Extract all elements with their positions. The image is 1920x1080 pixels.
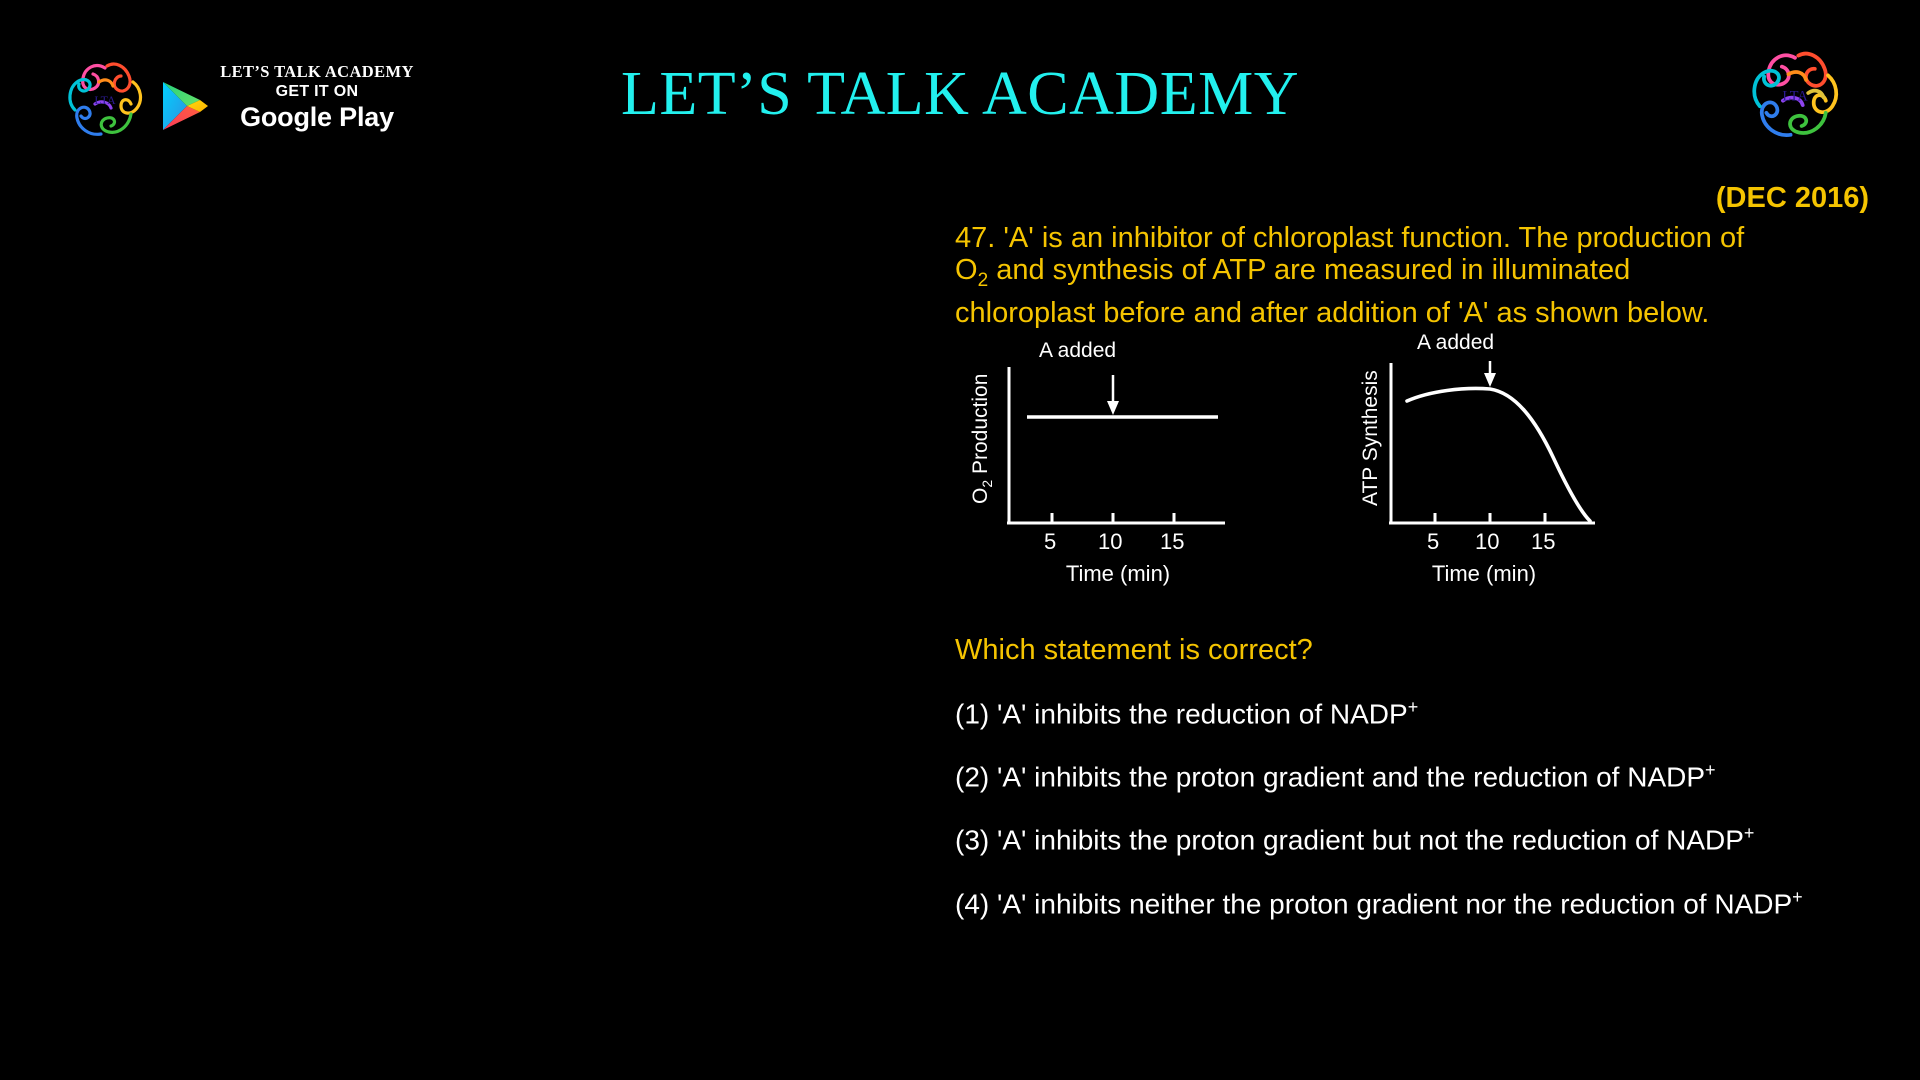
- question-stem-line-1: 47. 'A' is an inhibitor of chloroplast f…: [955, 222, 1744, 254]
- atp-tick-5: 5: [1427, 529, 1439, 555]
- o2-chart-plot: [1003, 365, 1233, 545]
- question-stem-line-2-rest: and synthesis of ATP are measured in ill…: [988, 254, 1630, 286]
- o2-ylabel-sub: 2: [979, 480, 995, 488]
- answer-option-4-text: (4) 'A' inhibits neither the proton grad…: [955, 888, 1792, 919]
- o2-tick-15: 15: [1160, 529, 1184, 555]
- atp-chart-annotation: A added: [1417, 331, 1494, 355]
- o2-ylabel-main: O: [969, 487, 992, 503]
- o2-chart-y-axis-label: O2 Production: [969, 373, 995, 503]
- o2-ylabel-rest: Production: [969, 373, 992, 479]
- o2-chart-annotation: A added: [1039, 339, 1116, 363]
- atp-tick-10: 10: [1475, 529, 1499, 555]
- atp-tick-15: 15: [1531, 529, 1555, 555]
- page-title: LET’S TALK ACADEMY: [0, 55, 1920, 133]
- answer-option-1[interactable]: (1) 'A' inhibits the reduction of NADP+: [955, 691, 1860, 730]
- answer-option-2[interactable]: (2) 'A' inhibits the proton gradient and…: [955, 754, 1860, 793]
- answer-option-4-superscript: +: [1792, 887, 1803, 907]
- question-stem: 47. 'A' is an inhibitor of chloroplast f…: [955, 222, 1865, 329]
- atp-synthesis-chart: A added ATP Synthesis 5 10 15: [1355, 331, 1655, 616]
- answer-option-3-superscript: +: [1744, 823, 1755, 843]
- page-header: LTA: [0, 0, 1920, 165]
- question-stem-line-2-o: O: [955, 254, 978, 286]
- answer-option-3-text: (3) 'A' inhibits the proton gradient but…: [955, 825, 1744, 856]
- question-panel: (DEC 2016) 47. 'A' is an inhibitor of ch…: [955, 180, 1875, 920]
- answer-option-2-superscript: +: [1705, 760, 1716, 780]
- atp-chart-x-axis-label: Time (min): [1379, 561, 1589, 587]
- atp-chart-y-axis-label: ATP Synthesis: [1359, 370, 1383, 506]
- o2-chart-x-axis-label: Time (min): [1003, 561, 1233, 587]
- lta-protein-ribbon-logo-right: LTA: [1735, 38, 1855, 148]
- exam-date-badge: (DEC 2016): [955, 180, 1875, 216]
- o2-tick-5: 5: [1044, 529, 1056, 555]
- question-stem-line-3: chloroplast before and after addition of…: [955, 297, 1709, 329]
- o2-production-chart: A added O2 Production 5 10: [965, 339, 1265, 624]
- answer-option-4[interactable]: (4) 'A' inhibits neither the proton grad…: [955, 881, 1860, 920]
- lta-logo-text-right: LTA: [1782, 89, 1808, 105]
- figure-charts: A added O2 Production 5 10: [955, 339, 1875, 629]
- answer-option-3[interactable]: (3) 'A' inhibits the proton gradient but…: [955, 817, 1860, 856]
- atp-chart-plot: [1385, 361, 1615, 546]
- o2-tick-10: 10: [1098, 529, 1122, 555]
- question-stem-o2-subscript: 2: [978, 270, 989, 291]
- answer-option-1-text: (1) 'A' inhibits the reduction of NADP: [955, 698, 1408, 729]
- answer-option-2-text: (2) 'A' inhibits the proton gradient and…: [955, 761, 1705, 792]
- answer-option-1-superscript: +: [1408, 697, 1419, 717]
- question-prompt: Which statement is correct?: [955, 633, 1875, 667]
